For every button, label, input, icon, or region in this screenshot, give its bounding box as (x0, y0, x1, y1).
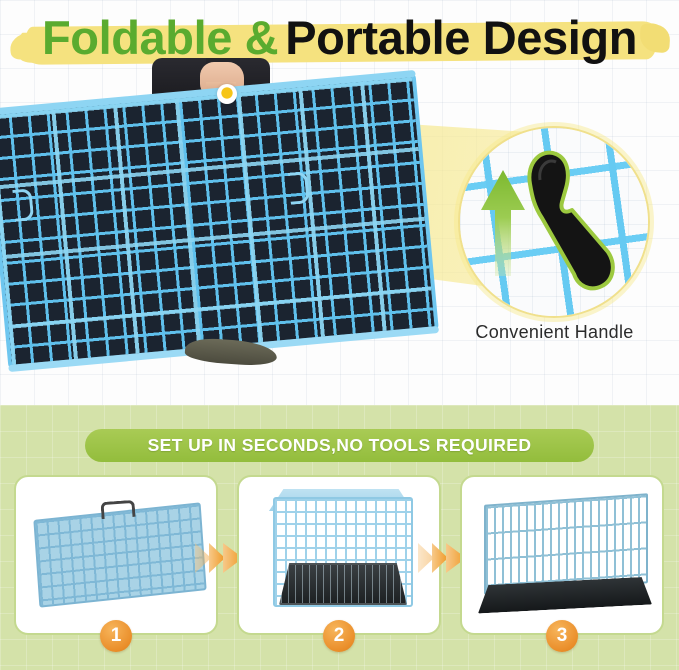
step-number-badge-3: 3 (546, 620, 578, 652)
step-number-badge-2: 2 (323, 620, 355, 652)
callout-label: Convenient Handle (430, 322, 679, 343)
step-3-illustration (462, 477, 662, 633)
step-card-3 (460, 475, 664, 635)
crate-wire-bars (0, 77, 434, 364)
step-number-badge-1: 1 (100, 620, 132, 652)
tray-grid-lines (281, 565, 405, 603)
folded-crate-panel (33, 502, 206, 607)
step-2-illustration (239, 477, 439, 633)
steps-row: 1 2 3 (0, 475, 679, 665)
infographic-page: Foldable & Portable Design (0, 0, 679, 670)
folded-crate-handle-icon (100, 500, 135, 519)
carry-handle-icon (512, 140, 642, 300)
step-card-1 (14, 475, 218, 635)
crate-handle-grip (217, 84, 237, 104)
title-green-part: Foldable & (42, 10, 278, 65)
title-black-part: Portable Design (285, 10, 637, 65)
top-section: Foldable & Portable Design (0, 0, 679, 405)
hero-folded-crate (0, 73, 439, 369)
step-1-illustration (16, 477, 216, 633)
crate-latch-right (288, 171, 310, 205)
setup-steps-section: SET UP IN SECONDS,NO TOOLS REQUIRED (0, 405, 679, 670)
title-block: Foldable & Portable Design (0, 6, 679, 68)
page-title: Foldable & Portable Design (0, 6, 679, 68)
crate-tray (279, 563, 407, 605)
step-card-2 (237, 475, 441, 635)
handle-zoom-callout (458, 126, 650, 318)
crate-latch-left (12, 188, 34, 222)
setup-banner: SET UP IN SECONDS,NO TOOLS REQUIRED (85, 429, 594, 462)
